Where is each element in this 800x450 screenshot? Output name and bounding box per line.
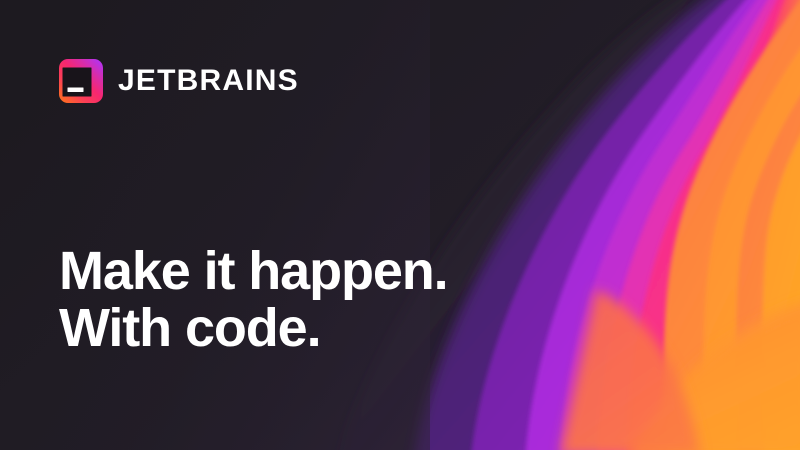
logo-underscore-icon xyxy=(68,88,84,93)
ribbon-arc-2 xyxy=(704,28,800,450)
band-bright-purple xyxy=(559,0,800,450)
orange-wash-group xyxy=(628,300,800,450)
band-group-magenta xyxy=(559,0,800,450)
brand-logo-lockup[interactable]: JETBRAINS xyxy=(58,58,299,104)
orange-wash-lower xyxy=(628,300,800,450)
ribbon-arc-3 xyxy=(736,74,800,450)
salmon-sweep-group xyxy=(560,290,700,450)
band-salmon xyxy=(688,0,800,450)
band-violet xyxy=(469,0,800,450)
band-group-outer xyxy=(330,0,800,450)
band-group-hotpink xyxy=(627,0,800,450)
band-group-purple xyxy=(411,0,800,450)
jetbrains-wordmark: JETBRAINS xyxy=(118,66,299,96)
band-group-salmon xyxy=(658,0,800,450)
ribbon-arcs xyxy=(664,0,800,450)
band-group-violet xyxy=(469,0,800,450)
jetbrains-logo-svg xyxy=(58,58,104,104)
headline-line-2: With code. xyxy=(59,300,448,357)
ribbon-arc-4 xyxy=(763,112,800,450)
band-deep-purple xyxy=(411,0,800,450)
band-pink xyxy=(627,0,800,450)
band-hot-pink xyxy=(658,0,800,450)
band-dark-plum xyxy=(330,0,800,450)
headline-line-1: Make it happen. xyxy=(59,243,448,300)
logo-inner-square xyxy=(63,68,92,97)
headline: Make it happen. With code. xyxy=(59,243,448,357)
salmon-sweep xyxy=(560,290,700,450)
band-group-pink xyxy=(597,0,800,450)
jetbrains-logo-mark-icon xyxy=(58,58,104,104)
band-group-orange-field xyxy=(688,0,800,450)
band-magenta xyxy=(597,0,800,450)
band-purple xyxy=(524,0,800,450)
jetbrains-hero-banner: JETBRAINS Make it happen. With code. xyxy=(0,0,800,450)
ribbon-arc-1 xyxy=(664,0,800,450)
band-group-bright-purple xyxy=(524,0,800,450)
